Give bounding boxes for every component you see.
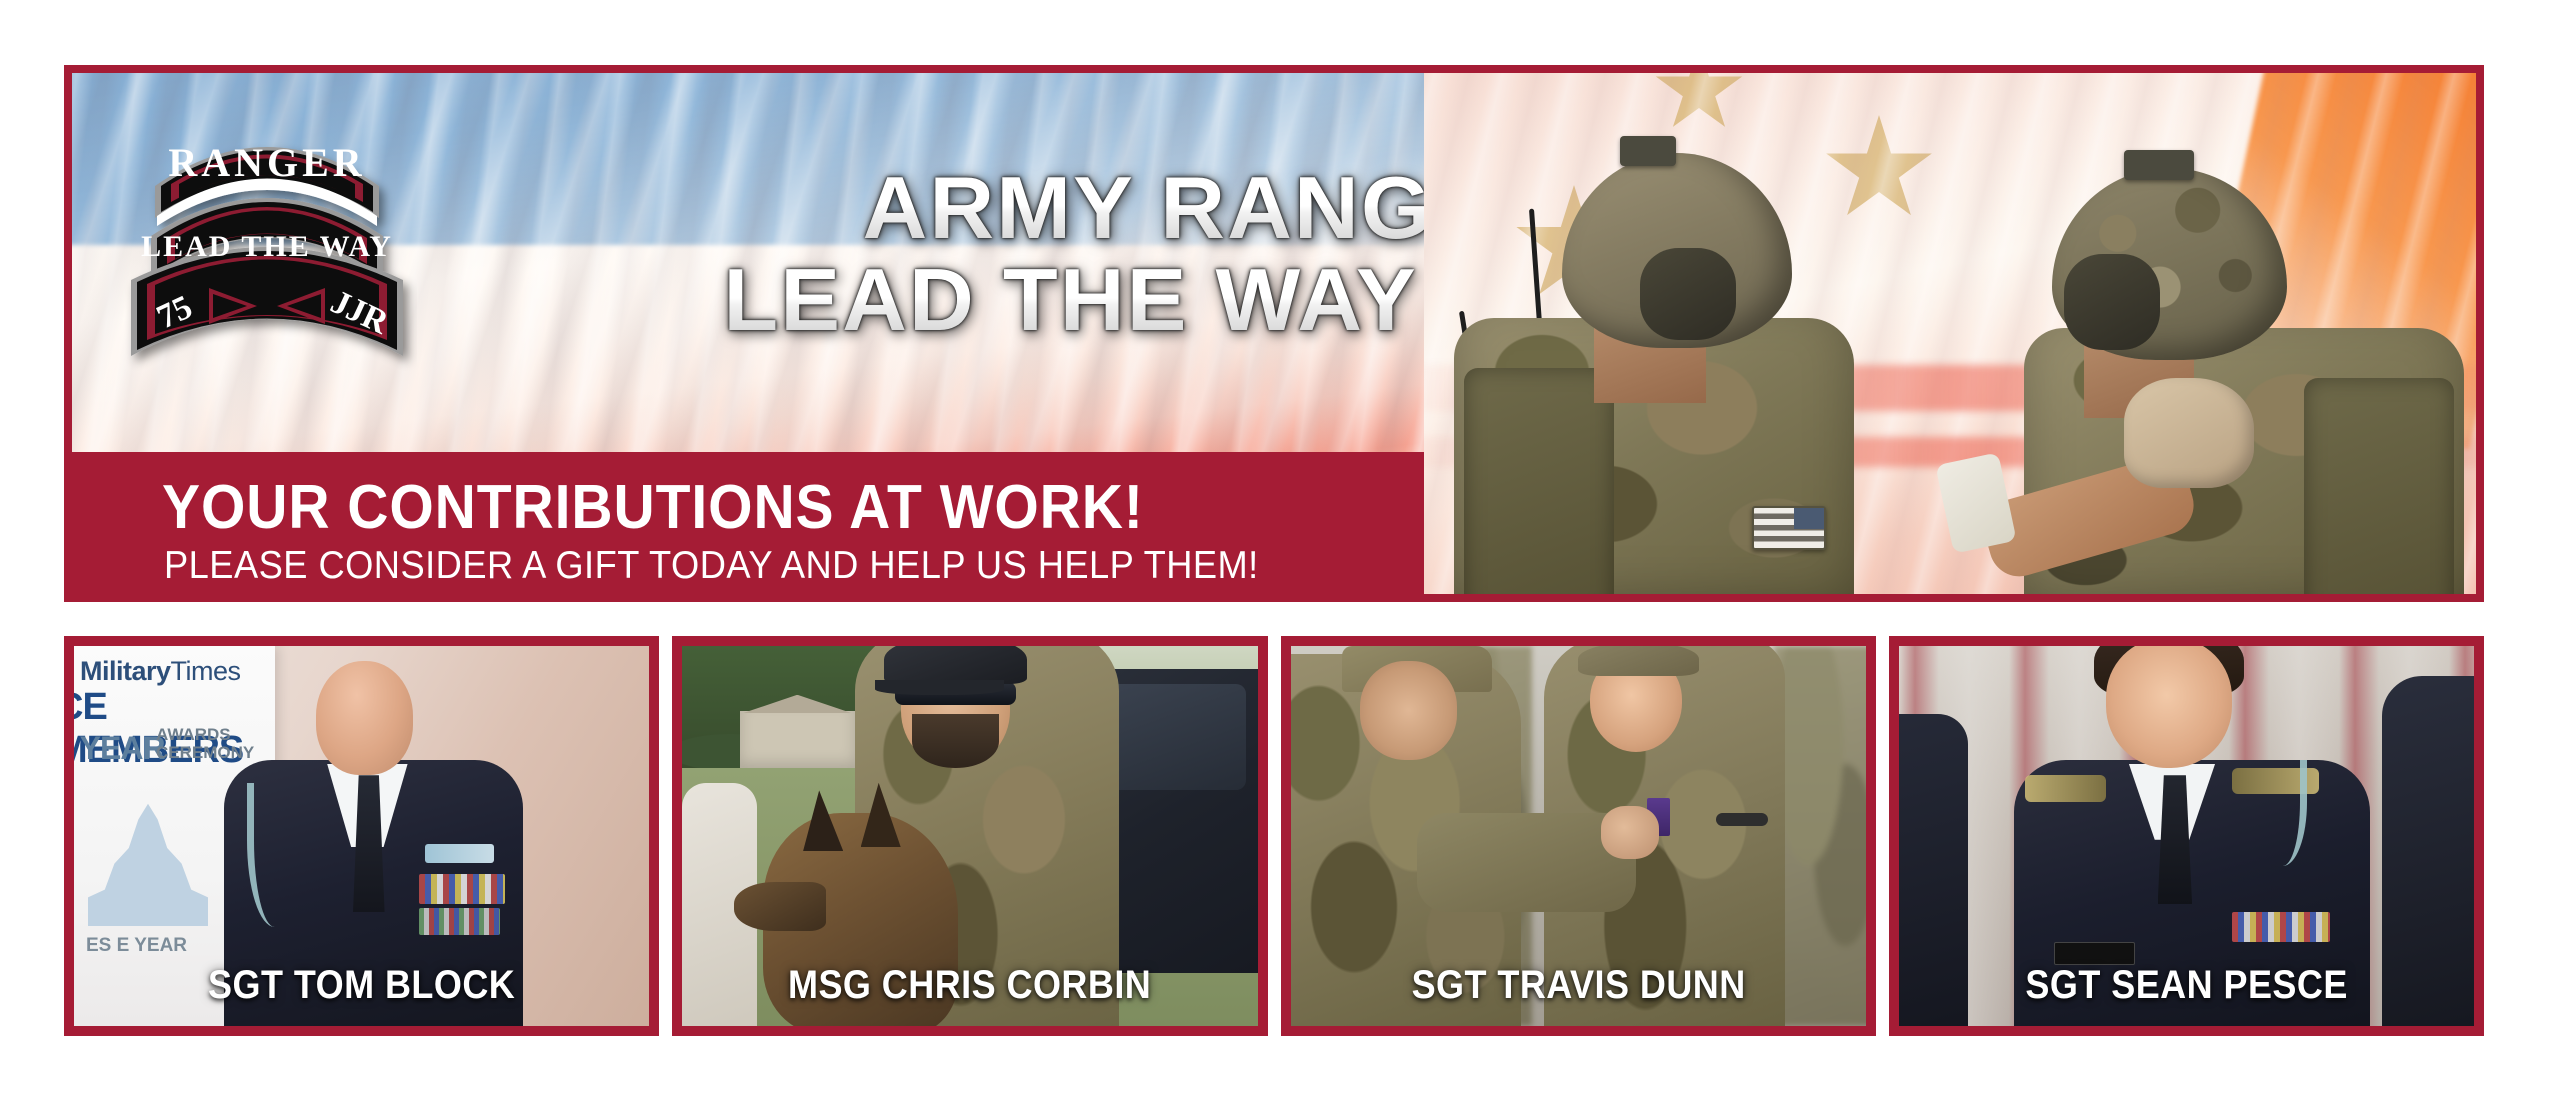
p4-ribbon-rack <box>2232 912 2330 942</box>
p1-backdrop-line-5: ES E YEAR <box>86 932 187 961</box>
photo-caption-tom-block: SGT TOM BLOCK <box>103 963 621 1008</box>
promo-banner-page: RANGER LEAD THE WAY 75 JJR ARMY RANGER L… <box>0 0 2550 1093</box>
p2-dog-snout <box>734 882 826 931</box>
soldier-right-glove <box>2124 378 2254 488</box>
p3-officer-head <box>1360 661 1458 760</box>
p3-ranger-tab-patch <box>1716 813 1768 826</box>
soldier-left-plate-carrier <box>1464 368 1614 594</box>
soldier-right-helmet-mount <box>2124 150 2194 180</box>
p1-backdrop-line-4: AWARDS CEREMONY <box>156 726 275 762</box>
soldier-left-helmet-mount <box>1620 136 1676 166</box>
photo-image-travis-dunn: SGT TRAVIS DUNN <box>1291 646 1866 1026</box>
logo-middle-tab-text: LEAD THE WAY <box>141 230 393 263</box>
p1-ribbon-rack-upper <box>419 874 505 904</box>
p4-name-tag <box>2054 942 2135 965</box>
photo-card-sean-pesce[interactable]: SGT SEAN PESCE <box>1889 636 2484 1036</box>
header-banner: RANGER LEAD THE WAY 75 JJR ARMY RANGER L… <box>64 65 2484 602</box>
photo-image-sean-pesce: SGT SEAN PESCE <box>1899 646 2474 1026</box>
photo-image-tom-block: MilitaryTimes CE MEMBERS E YEAR AWARDS C… <box>74 646 649 1026</box>
header-inner: RANGER LEAD THE WAY 75 JJR ARMY RANGER L… <box>72 73 2476 594</box>
p1-soldier-head <box>316 661 414 775</box>
logo-top-tab-text: RANGER <box>168 140 365 185</box>
p1-capitol-dome-graphic <box>88 796 208 926</box>
honoree-photo-row: MilitaryTimes CE MEMBERS E YEAR AWARDS C… <box>64 636 2484 1036</box>
photo-card-chris-corbin[interactable]: MSG CHRIS CORBIN <box>672 636 1267 1036</box>
ranger-scroll-logo: RANGER LEAD THE WAY 75 JJR <box>117 73 417 408</box>
p3-recipient-beret <box>1578 646 1699 676</box>
p4-soldier-head <box>2106 646 2233 768</box>
photo-card-travis-dunn[interactable]: SGT TRAVIS DUNN <box>1281 636 1876 1036</box>
p2-farm-building <box>740 711 855 772</box>
soldier-right-headset-earcup <box>2064 254 2160 350</box>
p1-backdrop-line-1: MilitaryTimes <box>80 656 241 687</box>
soldier-right-plate-carrier <box>2304 378 2454 594</box>
p3-officer-hand <box>1601 806 1659 859</box>
p2-ball-cap <box>884 646 1028 684</box>
message-headline: YOUR CONTRIBUTIONS AT WORK! <box>162 472 1144 543</box>
soldier-left-us-flag-patch <box>1752 506 1826 550</box>
p4-epaulet-left <box>2025 775 2106 802</box>
p1-ribbon-rack-lower <box>419 908 500 935</box>
message-subhead: PLEASE CONSIDER A GIFT TODAY AND HELP US… <box>164 544 1259 588</box>
header-soldiers-photo <box>1424 73 2476 594</box>
photo-card-tom-block[interactable]: MilitaryTimes CE MEMBERS E YEAR AWARDS C… <box>64 636 659 1036</box>
p1-backdrop-line-3: E YEAR <box>74 730 165 767</box>
photo-caption-sean-pesce: SGT SEAN PESCE <box>1928 963 2446 1008</box>
p2-handler-beard <box>912 714 998 767</box>
photo-caption-chris-corbin: MSG CHRIS CORBIN <box>711 963 1229 1008</box>
photo-caption-travis-dunn: SGT TRAVIS DUNN <box>1319 963 1837 1008</box>
photo-image-chris-corbin: MSG CHRIS CORBIN <box>682 646 1257 1026</box>
p1-combat-infantry-badge <box>425 844 494 863</box>
soldier-left-headset-earcup <box>1640 248 1736 340</box>
